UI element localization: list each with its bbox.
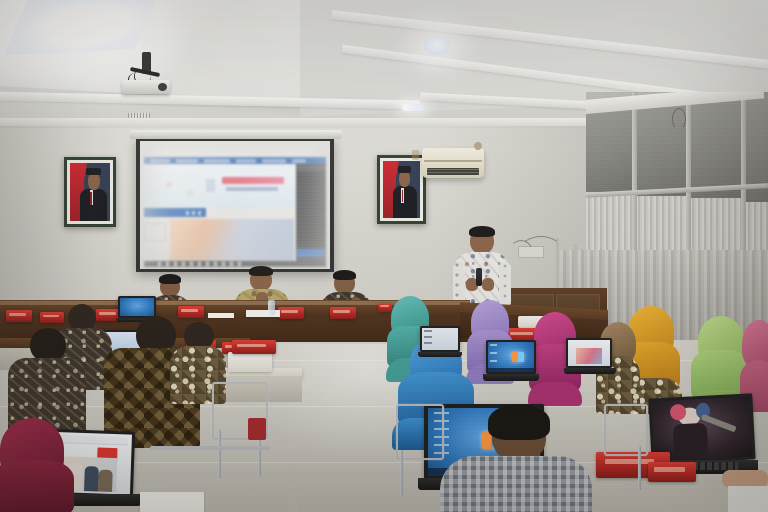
laptop-lid [566,338,612,368]
chair-leg [400,450,403,496]
windows-taskbar [488,368,534,372]
laptop-base [483,374,539,381]
participant-hair [488,404,550,440]
laptop-lid [486,340,536,374]
snack-box [278,307,304,319]
ceiling-downlight [424,36,450,55]
portrait-cap [86,168,100,175]
panelist-hair [333,270,356,280]
water-bottle [268,300,275,316]
stacking-chair [396,404,444,460]
desk-leg [288,470,298,512]
portrait-suit [80,189,106,221]
document-paper [140,492,204,512]
participant-shirt [440,456,592,512]
laptop-screen [422,328,458,350]
screen-icons [424,330,432,348]
presenter-hair [469,226,495,237]
participant-foreground-right [722,470,768,512]
presenter-hand-right [482,278,494,291]
laptop-lid [118,296,156,318]
ceiling-small-light [402,104,424,111]
snack-box [648,462,696,482]
glass-panel [690,94,744,198]
portrait-image [383,161,420,218]
hanging-cable [672,108,686,130]
photo-person [84,466,99,491]
participant-shirt [528,382,582,406]
laptop-screen [568,340,610,366]
chair-leg [218,430,221,478]
laptop-screen [488,342,534,372]
participant-red-hijab [0,418,74,512]
participant-head [30,328,66,362]
laptop-base [418,352,462,357]
wall-notice [412,150,419,160]
wallpaper-body [673,423,709,459]
participant-sleeve [728,486,768,512]
chair-seat [248,418,266,440]
hijab-drape [0,460,74,512]
portrait-tie [402,190,403,203]
portrait-suit [393,186,417,218]
chair-leg [638,446,641,490]
laptop-windows-blue [486,340,538,382]
chair-rail [150,446,270,450]
portrait-mat [380,158,423,221]
screen-roller-casing [130,130,342,139]
portrait-tie [90,192,92,205]
white-box [228,352,272,372]
ac-air-louvre [427,168,479,175]
portrait-image [70,163,110,221]
participant-grey-shirt [440,412,592,512]
ac-seam [424,160,482,162]
desktop-icons [490,344,497,363]
framed-portrait-right [377,155,426,224]
ceiling-projector [120,52,172,98]
framed-portrait-left [64,157,116,227]
power-cable [520,236,562,264]
handheld-microphone [476,268,482,286]
projector-lens [158,83,167,91]
glass-panel [586,106,634,192]
ac-pipe-cover [474,142,482,150]
snack-box [232,340,276,354]
photo-person [98,470,113,492]
windows-logo-icon [512,352,524,362]
panelist-hair [159,274,181,284]
laptop-photo-slideshow [566,338,614,374]
photograph-scene [0,0,768,512]
screen-photo [576,348,602,364]
snack-box [6,310,32,322]
snack-box [330,307,356,319]
laptop-lid [420,326,460,352]
laptop-base [564,368,616,374]
portrait-cap [398,166,411,173]
laptop-left-row [420,326,462,358]
stacking-chair [604,404,648,456]
panelist-hair [249,266,273,276]
laptop-screen [120,298,154,316]
screen-vignette [140,141,330,269]
portrait-mat [67,160,113,224]
document-paper [208,313,234,318]
